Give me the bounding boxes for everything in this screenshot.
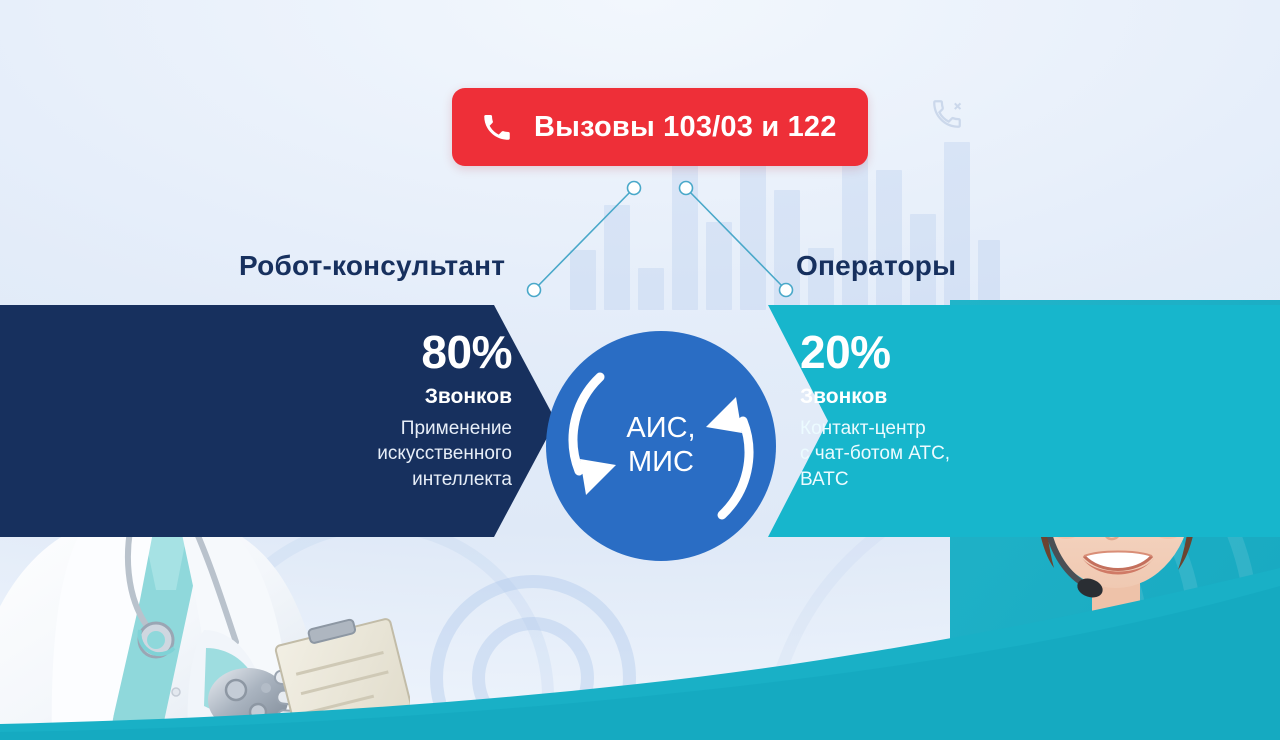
right-description: Контакт-центр с чат-ботом АТС, ВАТС	[800, 416, 1040, 492]
phone-icon	[480, 110, 514, 144]
connector-node-top-right	[680, 182, 693, 195]
connector-node-top-left	[628, 182, 641, 195]
heading-operators: Операторы	[796, 250, 956, 282]
teal-wave-shape	[0, 510, 1280, 740]
connector-lines	[0, 0, 1280, 400]
left-description: Применение искусственного интеллекта	[282, 416, 512, 492]
infographic-canvas: 80% Звонков Применение искусственного ин…	[0, 0, 1280, 740]
calls-badge-label: Вызовы 103/03 и 122	[534, 111, 837, 144]
calls-badge[interactable]: Вызовы 103/03 и 122	[452, 88, 868, 166]
heading-robot-consultant: Робот-консультант	[239, 250, 505, 282]
connector-node-bottom-right	[780, 284, 793, 297]
connector-node-bottom-left	[528, 284, 541, 297]
